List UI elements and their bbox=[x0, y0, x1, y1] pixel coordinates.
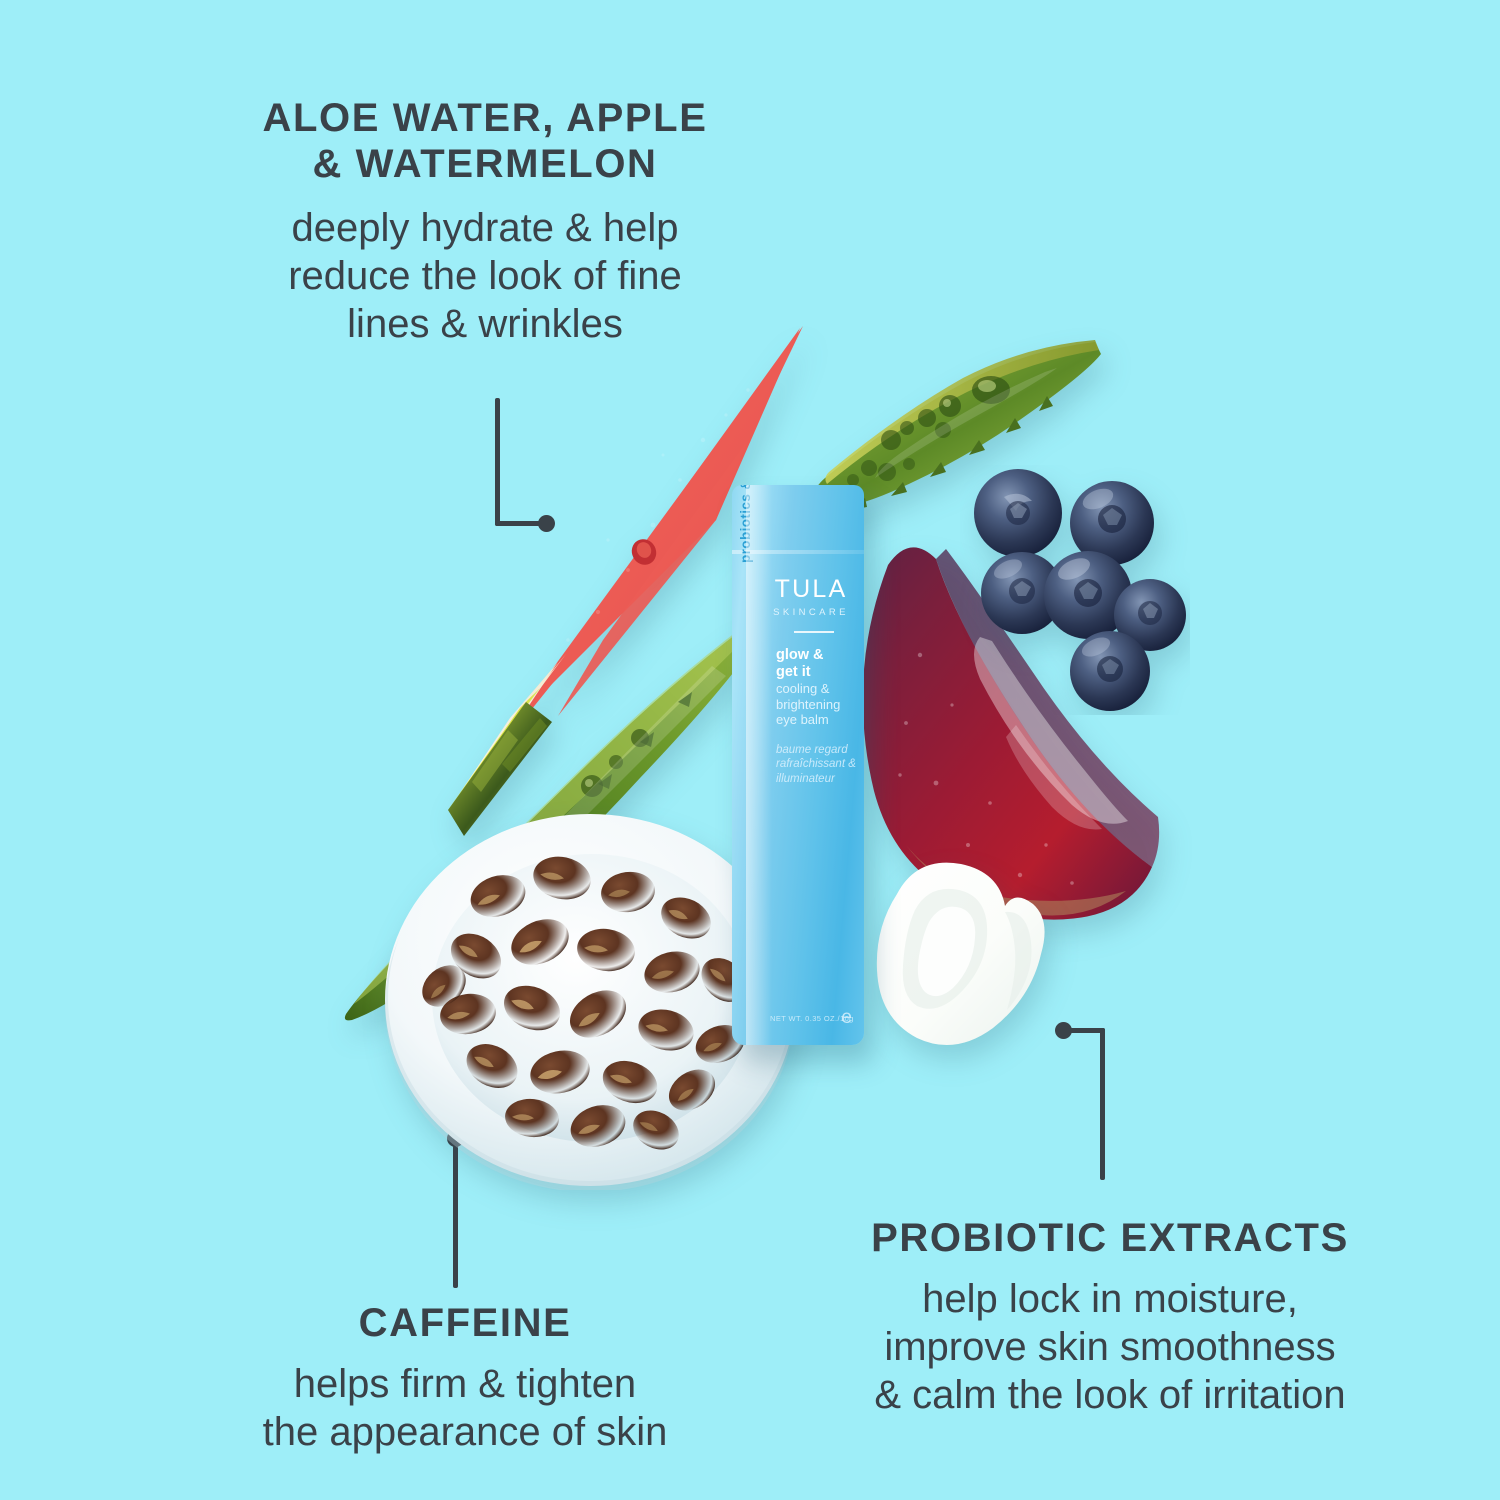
infographic-canvas: ALOE WATER, APPLE & WATERMELON deeply hy… bbox=[0, 0, 1500, 1500]
tube-divider-rule bbox=[794, 631, 834, 633]
callout-probiotic-body: help lock in moisture, improve skin smoo… bbox=[810, 1275, 1410, 1419]
tube-product-name: glow & get it bbox=[732, 647, 864, 681]
tube-brand-subtitle: SKINCARE bbox=[732, 607, 864, 618]
product-tube[interactable]: probiotics & superfoods TULA SKINCARE gl… bbox=[732, 485, 864, 1045]
tube-product-description: cooling & brightening eye balm bbox=[732, 681, 864, 728]
cream-swatch-image bbox=[865, 850, 1065, 1060]
tube-brand-name: TULA bbox=[732, 577, 864, 602]
callout-aloe-heading: ALOE WATER, APPLE & WATERMELON bbox=[185, 95, 785, 188]
tube-french-description: baume regard rafraîchissant & illuminate… bbox=[732, 743, 864, 786]
callout-probiotic-heading: PROBIOTIC EXTRACTS bbox=[810, 1215, 1410, 1261]
tube-vertical-text: probiotics & superfoods bbox=[738, 485, 753, 563]
callout-probiotic-extracts: PROBIOTIC EXTRACTS help lock in moisture… bbox=[810, 1215, 1410, 1419]
product-flatlay-photo: probiotics & superfoods TULA SKINCARE gl… bbox=[340, 310, 1200, 1210]
callout-caffeine-body: helps firm & tighten the appearance of s… bbox=[195, 1360, 735, 1456]
callout-caffeine: CAFFEINE helps firm & tighten the appear… bbox=[195, 1300, 735, 1456]
tube-estimated-sign-icon: e bbox=[841, 1007, 852, 1029]
tube-label-face: probiotics & superfoods TULA SKINCARE gl… bbox=[732, 485, 864, 1045]
callout-caffeine-heading: CAFFEINE bbox=[195, 1300, 735, 1346]
blueberries-image bbox=[960, 465, 1190, 715]
